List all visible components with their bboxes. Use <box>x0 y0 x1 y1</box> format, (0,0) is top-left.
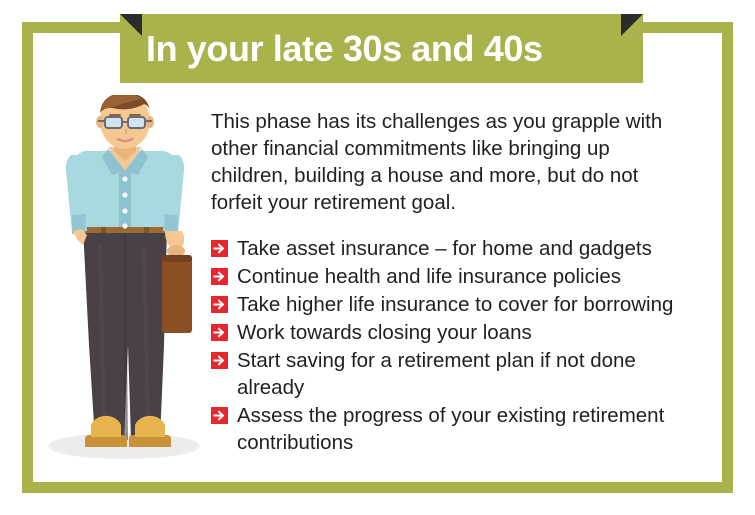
page-title: In your late 30s and 40s <box>146 14 623 83</box>
ribbon-fold-right-icon <box>621 14 643 36</box>
list-item: Take asset insurance – for home and gadg… <box>211 235 691 262</box>
ribbon-fold-left-icon <box>120 14 142 36</box>
intro-paragraph: This phase has its challenges as you gra… <box>211 108 691 216</box>
list-item-label: Take asset insurance – for home and gadg… <box>237 237 652 260</box>
list-item-label: Assess the progress of your existing ret… <box>237 404 664 454</box>
businessman-illustration <box>40 95 220 470</box>
list-item: Work towards closing your loans <box>211 319 691 346</box>
content-column: This phase has its challenges as you gra… <box>211 108 691 457</box>
list-item-label: Start saving for a retirement plan if no… <box>237 349 636 399</box>
arrow-right-icon <box>211 296 228 313</box>
infographic-card: In your late 30s and 40s <box>0 0 755 515</box>
list-item-label: Work towards closing your loans <box>237 321 532 344</box>
arrow-right-icon <box>211 324 228 341</box>
list-item-label: Continue health and life insurance polic… <box>237 265 621 288</box>
list-item: Assess the progress of your existing ret… <box>211 402 691 456</box>
arrow-right-icon <box>211 352 228 369</box>
advice-list: Take asset insurance – for home and gadg… <box>211 235 691 456</box>
title-ribbon: In your late 30s and 40s <box>120 14 643 83</box>
arrow-right-icon <box>211 240 228 257</box>
arrow-right-icon <box>211 407 228 424</box>
list-item-label: Take higher life insurance to cover for … <box>237 293 673 316</box>
list-item: Continue health and life insurance polic… <box>211 263 691 290</box>
list-item: Take higher life insurance to cover for … <box>211 291 691 318</box>
arrow-right-icon <box>211 268 228 285</box>
list-item: Start saving for a retirement plan if no… <box>211 347 691 401</box>
